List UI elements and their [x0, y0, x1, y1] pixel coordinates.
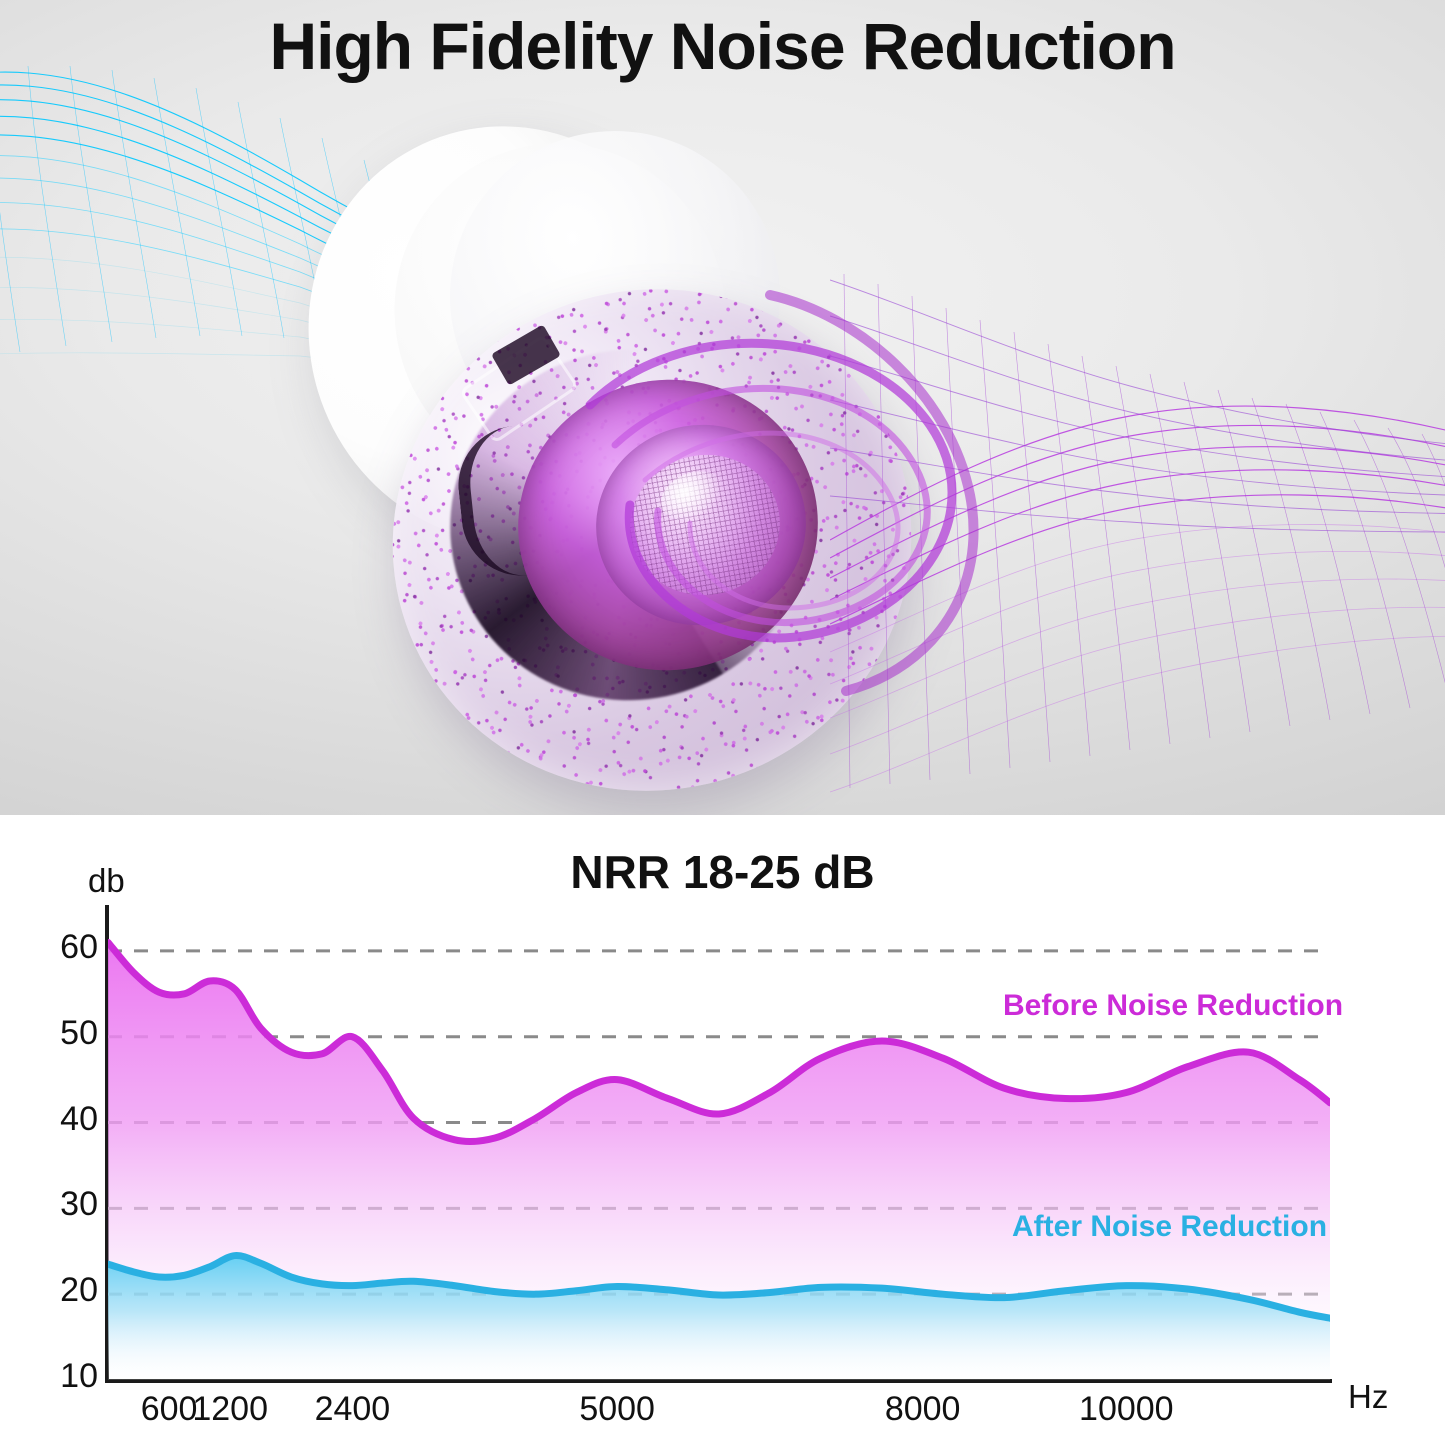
- infographic-page: High Fidelity Noise Reduction: [0, 0, 1445, 1445]
- x-tick-label-8000: 8000: [833, 1390, 1013, 1429]
- y-tick-label-20: 20: [28, 1271, 98, 1310]
- purple-ribbon-swirl-icon: [560, 255, 1030, 725]
- x-tick-label-2400: 2400: [262, 1390, 442, 1429]
- chart-series-svg: [108, 908, 1330, 1380]
- y-tick-label-30: 30: [28, 1185, 98, 1224]
- page-title: High Fidelity Noise Reduction: [0, 8, 1445, 84]
- y-axis-unit-label: db: [88, 862, 125, 900]
- x-tick-label-10000: 10000: [1036, 1390, 1216, 1429]
- y-tick-label-60: 60: [28, 928, 98, 967]
- y-tick-label-40: 40: [28, 1100, 98, 1139]
- legend-after-noise-reduction: After Noise Reduction: [1012, 1210, 1327, 1244]
- y-tick-label-50: 50: [28, 1014, 98, 1053]
- chart-plot-area: [108, 908, 1330, 1380]
- product-hero-section: High Fidelity Noise Reduction: [0, 0, 1445, 815]
- x-axis-unit-label: Hz: [1348, 1378, 1388, 1416]
- chart-title: NRR 18-25 dB: [0, 845, 1445, 899]
- legend-before-noise-reduction: Before Noise Reduction: [1003, 989, 1343, 1023]
- x-tick-label-5000: 5000: [527, 1390, 707, 1429]
